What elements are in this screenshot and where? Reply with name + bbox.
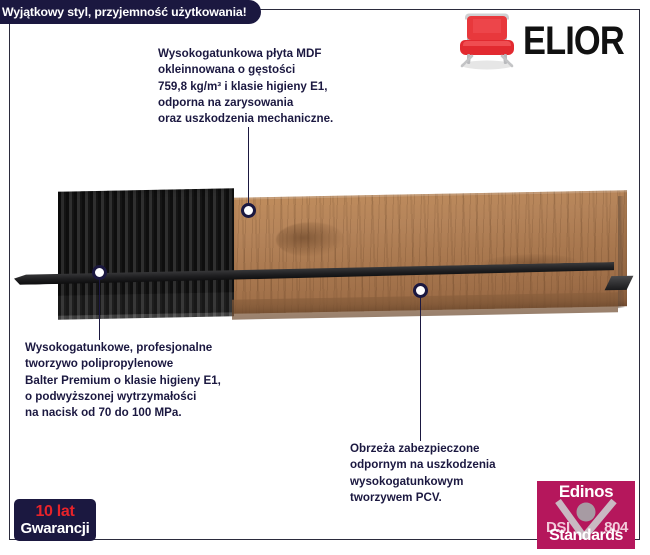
headline-banner: Wyjątkowy styl, przyjemność użytkowania! [0, 0, 261, 24]
guarantee-badge: 10 lat Gwarancji [14, 499, 96, 541]
wood-grain-knot [276, 222, 344, 257]
callout-text-mdf-panel: Wysokogatunkowa płyta MDF okleinnowana o… [158, 46, 333, 127]
callout-leader-mdf-panel [248, 127, 250, 205]
slat-reflection [58, 292, 234, 319]
callout-leader-polypropylene [99, 278, 101, 340]
edinos-standards-badge: Edinos DSI 804 Standards [537, 481, 635, 549]
red-chair-icon [455, 10, 519, 72]
callout-marker-pcv-edging[interactable] [413, 283, 428, 298]
callout-line: Balter Premium o klasie higieny E1, [25, 373, 221, 389]
callout-leader-pcv-edging [420, 296, 422, 441]
guarantee-years: 10 lat [35, 504, 74, 520]
infographic-canvas: Wyjątkowy styl, przyjemność użytkowania!… [0, 0, 650, 555]
callout-text-polypropylene: Wysokogatunkowe, profesjonalne tworzywo … [25, 340, 221, 421]
callout-line: Wysokogatunkowa płyta MDF [158, 46, 333, 62]
callout-line: tworzywem PCV. [350, 490, 496, 506]
callout-line: 759,8 kg/m³ i klasie higieny E1, [158, 79, 333, 95]
callout-line: okleinnowana o gęstości [158, 62, 333, 78]
callout-line: o podwyższonej wytrzymałości [25, 389, 221, 405]
callout-text-pcv-edging: Obrzeża zabezpieczone odpornym na uszkod… [350, 441, 496, 506]
panel-drop-shadow [618, 196, 625, 308]
brand-logo[interactable]: ELIOR [455, 10, 640, 72]
callout-line: na nacisk od 70 do 100 MPa. [25, 405, 221, 421]
callout-line: wysokogatunkowym [350, 474, 496, 490]
callout-line: tworzywo polipropylenowe [25, 356, 221, 372]
edinos-standards-label: Standards [537, 527, 635, 545]
headline-text: Wyjątkowy styl, przyjemność użytkowania! [2, 5, 247, 19]
callout-line: odporna na zarysowania [158, 95, 333, 111]
callout-line: odpornym na uszkodzenia [350, 457, 496, 473]
callout-marker-polypropylene[interactable] [92, 265, 107, 280]
callout-line: oraz uszkodzenia mechaniczne. [158, 111, 333, 127]
guarantee-label: Gwarancji [21, 520, 90, 537]
callout-line: Obrzeża zabezpieczone [350, 441, 496, 457]
callout-line: Wysokogatunkowe, profesjonalne [25, 340, 221, 356]
brand-wordmark: ELIOR [523, 21, 624, 61]
product-image-wall-shelf [14, 176, 636, 316]
callout-marker-mdf-panel[interactable] [241, 203, 256, 218]
